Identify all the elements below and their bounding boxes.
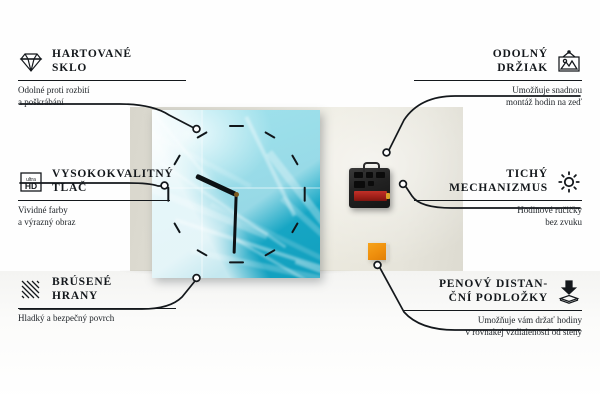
feature-title-line-2: TLAČ	[52, 182, 174, 196]
feature-divider	[414, 80, 582, 81]
feature-title-line-2: MECHANIZMUS	[449, 182, 548, 196]
wall-clock-product	[152, 110, 320, 278]
svg-text:HD: HD	[25, 181, 37, 191]
feature-desc-line-2: a poškrábání	[18, 97, 186, 109]
feature-heading: HARTOVANÉ SKLO	[18, 48, 186, 75]
feature-divider	[18, 308, 176, 309]
mechanism-slot	[354, 172, 363, 178]
feature-title-line-1: BRÚSENÉ	[52, 276, 112, 290]
feature-title-line-1: TICHÝ	[449, 168, 548, 182]
feature-desc-line-1: Umožňuje snadnou	[414, 85, 582, 97]
clock-mechanism	[349, 168, 390, 208]
feature-tempered-glass: HARTOVANÉ SKLO Odolné proti rozbití a po…	[18, 48, 186, 108]
gear-icon	[556, 169, 582, 195]
feature-divider	[18, 80, 186, 81]
clock-tick	[229, 261, 244, 263]
feature-silent-mechanism: TICHÝ MECHANIZMUS Hodinové ručičky bez z…	[414, 168, 582, 228]
feature-desc-line-2: v rovnakej vzdialenosti od steny	[404, 327, 582, 339]
feature-title-line-1: PENOVÝ DISTAN-	[439, 278, 548, 292]
ultra-hd-icon: ultra HD	[18, 169, 44, 195]
feature-desc-line-1: Odolné proti rozbití	[18, 85, 186, 97]
feature-title-line-1: VYSOKOKVALITNÝ	[52, 168, 174, 182]
feature-desc-line-1: Umožňuje vám držať hodiny	[404, 315, 582, 327]
clock-center-hub	[234, 192, 239, 197]
battery-terminal	[386, 193, 390, 199]
feature-heading: BRÚSENÉ HRANY	[18, 276, 176, 303]
feature-desc-line-1: Hodinové ručičky	[414, 205, 582, 217]
feature-title-line-1: HARTOVANÉ	[52, 48, 132, 62]
feature-desc-line-1: Vividné farby	[18, 205, 170, 217]
feature-title-line-2: HRANY	[52, 290, 112, 304]
mechanism-slot	[368, 181, 374, 186]
feature-desc-line-1: Hladký a bezpečný povrch	[18, 313, 176, 325]
feature-heading: PENOVÝ DISTAN- ČNÍ PODLOŽKY	[404, 278, 582, 305]
feature-beveled-edges: BRÚSENÉ HRANY Hladký a bezpečný povrch	[18, 276, 176, 325]
foam-spacer-pad	[368, 243, 386, 260]
feature-heading: ODOLNÝ DRŽIAK	[414, 48, 582, 75]
feature-title-line-1: ODOLNÝ	[493, 48, 548, 62]
feature-desc-line-2: a výrazný obraz	[18, 217, 170, 229]
feature-divider	[414, 200, 582, 201]
mechanism-slot	[354, 181, 365, 188]
feature-heading: TICHÝ MECHANIZMUS	[414, 168, 582, 195]
feature-foam-spacers: PENOVÝ DISTAN- ČNÍ PODLOŽKY Umožňuje vám…	[404, 278, 582, 338]
feature-divider	[404, 310, 582, 311]
infographic-canvas: HARTOVANÉ SKLO Odolné proti rozbití a po…	[0, 0, 600, 400]
foam-spacer-icon	[556, 279, 582, 305]
feature-desc-line-2: bez zvuku	[414, 217, 582, 229]
feature-title-line-2: ČNÍ PODLOŽKY	[439, 292, 548, 306]
foam-spacer-edge	[386, 244, 390, 262]
mechanism-slot	[366, 172, 373, 178]
feature-title-line-2: SKLO	[52, 62, 132, 76]
feature-title-line-2: DRŽIAK	[493, 62, 548, 76]
mechanism-battery	[354, 191, 387, 201]
clock-tick	[303, 186, 305, 201]
diamond-icon	[18, 49, 44, 75]
mechanism-slot	[376, 172, 385, 178]
feature-hd-print: ultra HD VYSOKOKVALITNÝ TLAČ Vividné far…	[18, 168, 170, 228]
picture-hanger-icon	[556, 49, 582, 75]
feature-durable-hanger: ODOLNÝ DRŽIAK Umožňuje snadnou montáž ho…	[414, 48, 582, 108]
feature-divider	[18, 200, 170, 201]
beveled-edges-icon	[18, 277, 44, 303]
feature-heading: ultra HD VYSOKOKVALITNÝ TLAČ	[18, 168, 170, 195]
mechanism-hanger-hook	[363, 162, 380, 172]
feature-desc-line-2: montáž hodin na zeď	[414, 97, 582, 109]
